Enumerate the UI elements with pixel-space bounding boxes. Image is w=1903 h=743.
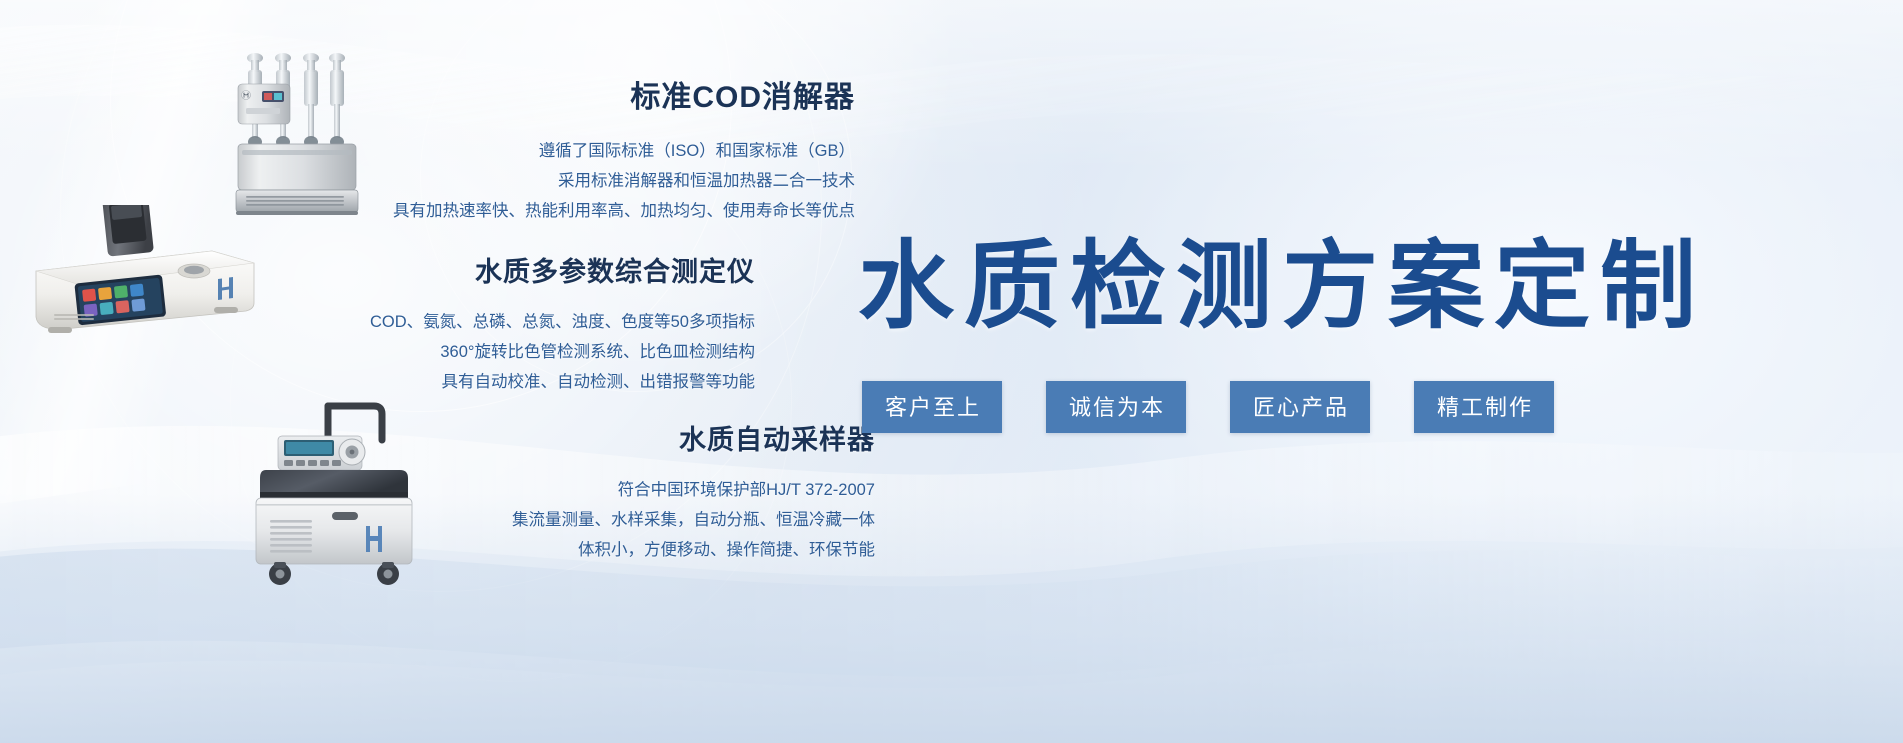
product-description-line: 体积小，方便移动、操作简捷、环保节能 <box>320 537 875 563</box>
product-description: COD、氨氮、总磷、总氮、浊度、色度等50多项指标 360°旋转比色管检测系统、… <box>140 309 755 395</box>
product-description: 遵循了国际标准（ISO）和国家标准（GB） 采用标准消解器和恒温加热器二合一技术… <box>240 138 855 224</box>
value-badges: 客户至上 诚信为本 匠心产品 精工制作 <box>862 381 1554 433</box>
product-description-line: COD、氨氮、总磷、总氮、浊度、色度等50多项指标 <box>140 309 755 335</box>
product-description-line: 采用标准消解器和恒温加热器二合一技术 <box>240 168 855 194</box>
product-title: 水质多参数综合测定仪 <box>140 250 755 289</box>
product-description-line: 具有加热速率快、热能利用率高、加热均匀、使用寿命长等优点 <box>240 198 855 224</box>
hero-heading-block: 水质检测方案定制 <box>858 232 1868 342</box>
product-description-line: 具有自动校准、自动检测、出错报警等功能 <box>140 369 755 395</box>
badge-customer-first[interactable]: 客户至上 <box>862 381 1002 433</box>
product-block-auto-sampler: 水质自动采样器 符合中国环境保护部HJ/T 372-2007 集流量测量、水样采… <box>320 418 875 563</box>
product-description-line: 360°旋转比色管检测系统、比色皿检测结构 <box>140 339 755 365</box>
water-quality-banner: 标准COD消解器 遵循了国际标准（ISO）和国家标准（GB） 采用标准消解器和恒… <box>0 0 1903 743</box>
product-title: 水质自动采样器 <box>320 418 875 457</box>
badge-integrity[interactable]: 诚信为本 <box>1046 381 1186 433</box>
product-description-line: 集流量测量、水样采集，自动分瓶、恒温冷藏一体 <box>320 507 875 533</box>
product-title: 标准COD消解器 <box>240 72 855 116</box>
product-block-water-analyzer: 水质多参数综合测定仪 COD、氨氮、总磷、总氮、浊度、色度等50多项指标 360… <box>140 250 755 395</box>
product-description: 符合中国环境保护部HJ/T 372-2007 集流量测量、水样采集，自动分瓶、恒… <box>320 477 875 563</box>
product-description-line: 遵循了国际标准（ISO）和国家标准（GB） <box>240 138 855 164</box>
product-description-line: 符合中国环境保护部HJ/T 372-2007 <box>320 477 875 503</box>
page-title: 水质检测方案定制 <box>858 232 1868 342</box>
background-wash-right <box>761 0 1903 743</box>
product-block-cod-digester: 标准COD消解器 遵循了国际标准（ISO）和国家标准（GB） 采用标准消解器和恒… <box>240 72 855 224</box>
badge-craftsmanship[interactable]: 匠心产品 <box>1230 381 1370 433</box>
badge-fine-manufacturing[interactable]: 精工制作 <box>1414 381 1554 433</box>
